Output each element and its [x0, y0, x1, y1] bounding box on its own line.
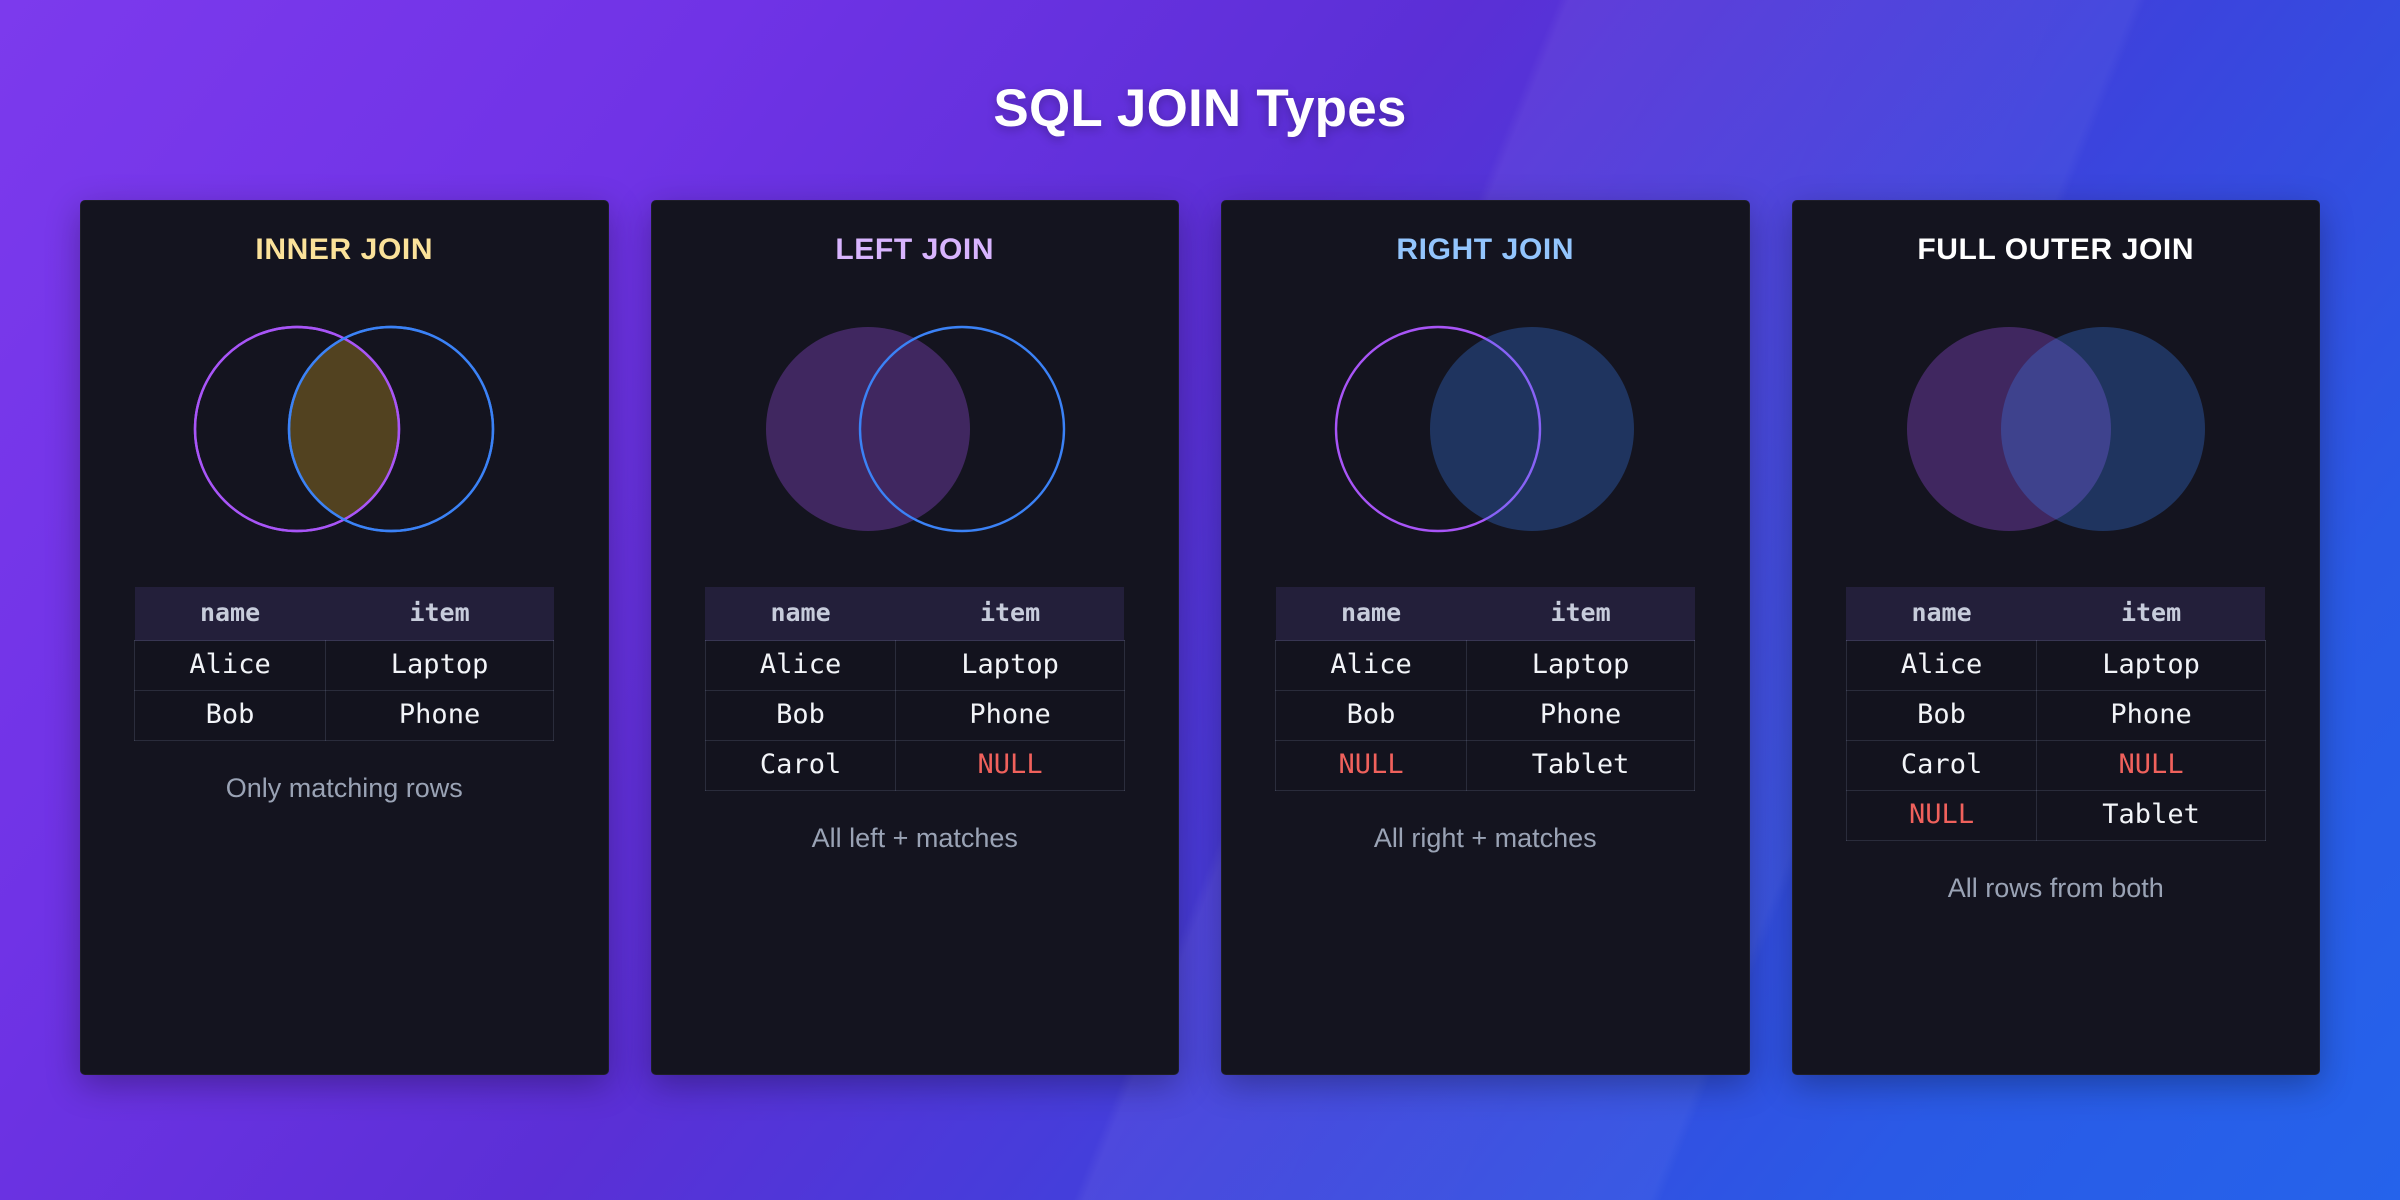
result-table-wrap-left-join: nameitemAliceLaptopBobPhoneCarolNULL: [705, 587, 1125, 791]
column-header-name: name: [1846, 587, 2037, 641]
cell-name: Alice: [705, 641, 896, 691]
result-table-wrap-inner-join: nameitemAliceLaptopBobPhone: [134, 587, 554, 741]
cell-item: Phone: [896, 691, 1124, 741]
column-header-name: name: [135, 587, 326, 641]
cell-item: Tablet: [2037, 791, 2265, 841]
join-card-left-join: LEFT JOINnameitemAliceLaptopBobPhoneCaro…: [651, 200, 1180, 1075]
cell-name: Bob: [1846, 691, 2037, 741]
result-table-right-join: nameitemAliceLaptopBobPhoneNULLTablet: [1275, 587, 1695, 791]
column-header-name: name: [1276, 587, 1467, 641]
card-title-right-join: RIGHT JOIN: [1396, 233, 1574, 267]
cell-name: NULL: [1846, 791, 2037, 841]
join-card-inner-join: INNER JOINnameitemAliceLaptopBobPhoneOnl…: [80, 200, 609, 1075]
join-card-right-join: RIGHT JOINnameitemAliceLaptopBobPhoneNUL…: [1221, 200, 1750, 1075]
cell-name: Alice: [1846, 641, 2037, 691]
result-table-full-outer-join: nameitemAliceLaptopBobPhoneCarolNULLNULL…: [1846, 587, 2266, 841]
table-row: AliceLaptop: [1846, 641, 2265, 691]
cell-item: Tablet: [1466, 741, 1694, 791]
column-header-item: item: [2037, 587, 2265, 641]
cell-item: Phone: [325, 691, 553, 741]
table-row: CarolNULL: [705, 741, 1124, 791]
cell-name: Bob: [1276, 691, 1467, 741]
cell-item: Laptop: [1466, 641, 1694, 691]
table-row: BobPhone: [135, 691, 554, 741]
card-title-left-join: LEFT JOIN: [835, 233, 994, 267]
join-card-full-outer-join: FULL OUTER JOINnameitemAliceLaptopBobPho…: [1792, 200, 2321, 1075]
table-row: NULLTablet: [1846, 791, 2265, 841]
cell-name: Alice: [1276, 641, 1467, 691]
table-header-row: nameitem: [1846, 587, 2265, 641]
table-row: BobPhone: [1276, 691, 1695, 741]
cell-name: Bob: [705, 691, 896, 741]
venn-left-circle: [766, 327, 970, 531]
card-caption-full-outer-join: All rows from both: [1936, 873, 2176, 904]
table-header-row: nameitem: [1276, 587, 1695, 641]
cell-item: NULL: [2037, 741, 2265, 791]
card-title-full-outer-join: FULL OUTER JOIN: [1917, 233, 2194, 267]
cell-item: Laptop: [2037, 641, 2265, 691]
venn-right-circle: [1430, 327, 1634, 531]
cell-name: Carol: [705, 741, 896, 791]
cell-name: NULL: [1276, 741, 1467, 791]
card-title-inner-join: INNER JOIN: [255, 233, 433, 267]
result-table-wrap-full-outer-join: nameitemAliceLaptopBobPhoneCarolNULLNULL…: [1846, 587, 2266, 841]
cell-item: Laptop: [325, 641, 553, 691]
cell-item: Laptop: [896, 641, 1124, 691]
venn-diagram-right-join: [1222, 305, 1749, 553]
venn-diagram-left-join: [652, 305, 1179, 553]
join-cards-row: INNER JOINnameitemAliceLaptopBobPhoneOnl…: [80, 200, 2320, 1075]
table-row: CarolNULL: [1846, 741, 2265, 791]
table-header-row: nameitem: [705, 587, 1124, 641]
cell-name: Bob: [135, 691, 326, 741]
result-table-left-join: nameitemAliceLaptopBobPhoneCarolNULL: [705, 587, 1125, 791]
result-table-wrap-right-join: nameitemAliceLaptopBobPhoneNULLTablet: [1275, 587, 1695, 791]
card-caption-left-join: All left + matches: [800, 823, 1030, 854]
table-row: AliceLaptop: [135, 641, 554, 691]
cell-name: Alice: [135, 641, 326, 691]
cell-item: Phone: [2037, 691, 2265, 741]
page-title: SQL JOIN Types: [0, 78, 2400, 139]
table-row: BobPhone: [705, 691, 1124, 741]
column-header-item: item: [896, 587, 1124, 641]
column-header-item: item: [1466, 587, 1694, 641]
cell-item: Phone: [1466, 691, 1694, 741]
column-header-name: name: [705, 587, 896, 641]
table-row: AliceLaptop: [1276, 641, 1695, 691]
venn-diagram-full-outer-join: [1793, 305, 2320, 553]
card-caption-inner-join: Only matching rows: [214, 773, 475, 804]
table-row: AliceLaptop: [705, 641, 1124, 691]
result-table-inner-join: nameitemAliceLaptopBobPhone: [134, 587, 554, 741]
card-caption-right-join: All right + matches: [1362, 823, 1609, 854]
venn-diagram-inner-join: [81, 305, 608, 553]
venn-right-circle: [2001, 327, 2205, 531]
table-row: NULLTablet: [1276, 741, 1695, 791]
column-header-item: item: [325, 587, 553, 641]
cell-name: Carol: [1846, 741, 2037, 791]
table-row: BobPhone: [1846, 691, 2265, 741]
cell-item: NULL: [896, 741, 1124, 791]
table-header-row: nameitem: [135, 587, 554, 641]
